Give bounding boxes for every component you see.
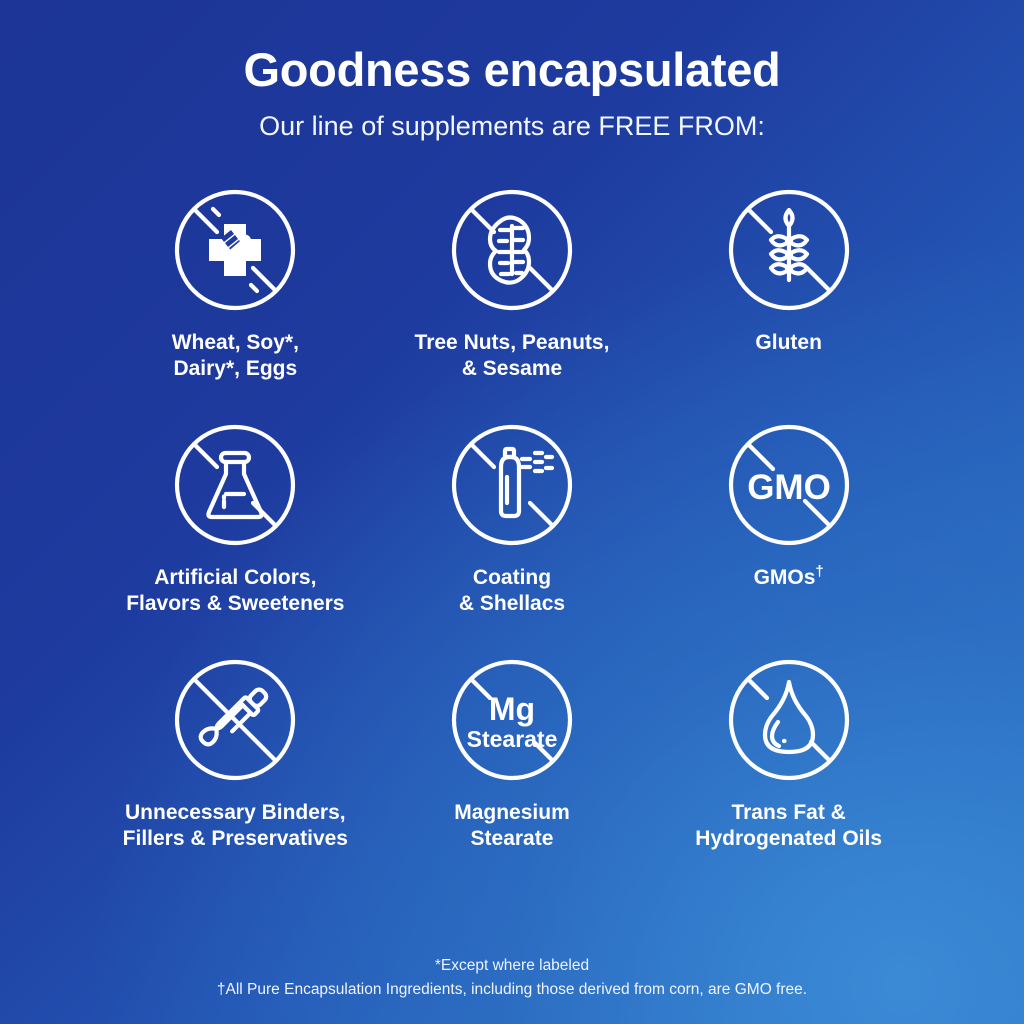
free-from-item-label: Gluten	[755, 330, 822, 357]
footnote-asterisk: *Except where labeled	[0, 954, 1024, 978]
no-fork-cross-icon	[169, 184, 301, 316]
no-dropper-icon	[169, 654, 301, 786]
free-from-item-coating: Coating & Shellacs	[377, 419, 648, 654]
gmo-icon-text: GMO	[747, 468, 831, 507]
poster: Goodness encapsulated Our line of supple…	[0, 0, 1024, 1024]
free-from-item-label: Coating & Shellacs	[459, 565, 565, 618]
page-subtitle: Our line of supplements are FREE FROM:	[0, 111, 1024, 142]
free-from-item-label: Magnesium Stearate	[454, 800, 570, 853]
stearate-icon-text: Stearate	[467, 726, 558, 752]
no-oil-droplet-icon	[723, 654, 855, 786]
free-from-item-artificial-colors: Artificial Colors, Flavors & Sweeteners	[100, 419, 371, 654]
no-gmo-icon: GMO	[723, 419, 855, 551]
free-from-item-trans-fat: Trans Fat & Hydrogenated Oils	[653, 654, 924, 889]
no-flask-icon	[169, 419, 301, 551]
free-from-item-label: Trans Fat & Hydrogenated Oils	[695, 800, 882, 853]
no-magnesium-stearate-icon: Mg Stearate	[446, 654, 578, 786]
free-from-item-allergens: Wheat, Soy*, Dairy*, Eggs	[100, 184, 371, 419]
free-from-item-gluten: Gluten	[653, 184, 924, 419]
footnotes: *Except where labeled †All Pure Encapsul…	[0, 954, 1024, 1002]
free-from-item-label: Wheat, Soy*, Dairy*, Eggs	[172, 330, 299, 383]
free-from-item-nuts: Tree Nuts, Peanuts, & Sesame	[377, 184, 648, 419]
free-from-item-label: Tree Nuts, Peanuts, & Sesame	[415, 330, 610, 383]
free-from-item-label: GMOs†	[754, 565, 824, 592]
no-spray-can-icon	[446, 419, 578, 551]
free-from-grid: Wheat, Soy*, Dairy*, Eggs Tree Nuts, Pea…	[100, 184, 924, 889]
mg-icon-text: Mg	[489, 691, 535, 727]
free-from-item-binders: Unnecessary Binders, Fillers & Preservat…	[100, 654, 371, 889]
no-wheat-stalk-icon	[723, 184, 855, 316]
no-peanut-icon	[446, 184, 578, 316]
free-from-item-label: Artificial Colors, Flavors & Sweeteners	[126, 565, 344, 618]
free-from-item-magnesium-stearate: Mg Stearate Magnesium Stearate	[377, 654, 648, 889]
free-from-item-gmo: GMO GMOs†	[653, 419, 924, 654]
header: Goodness encapsulated Our line of supple…	[0, 0, 1024, 142]
page-title: Goodness encapsulated	[0, 44, 1024, 97]
footnote-dagger: †All Pure Encapsulation Ingredients, inc…	[0, 978, 1024, 1002]
free-from-item-label: Unnecessary Binders, Fillers & Preservat…	[123, 800, 348, 853]
